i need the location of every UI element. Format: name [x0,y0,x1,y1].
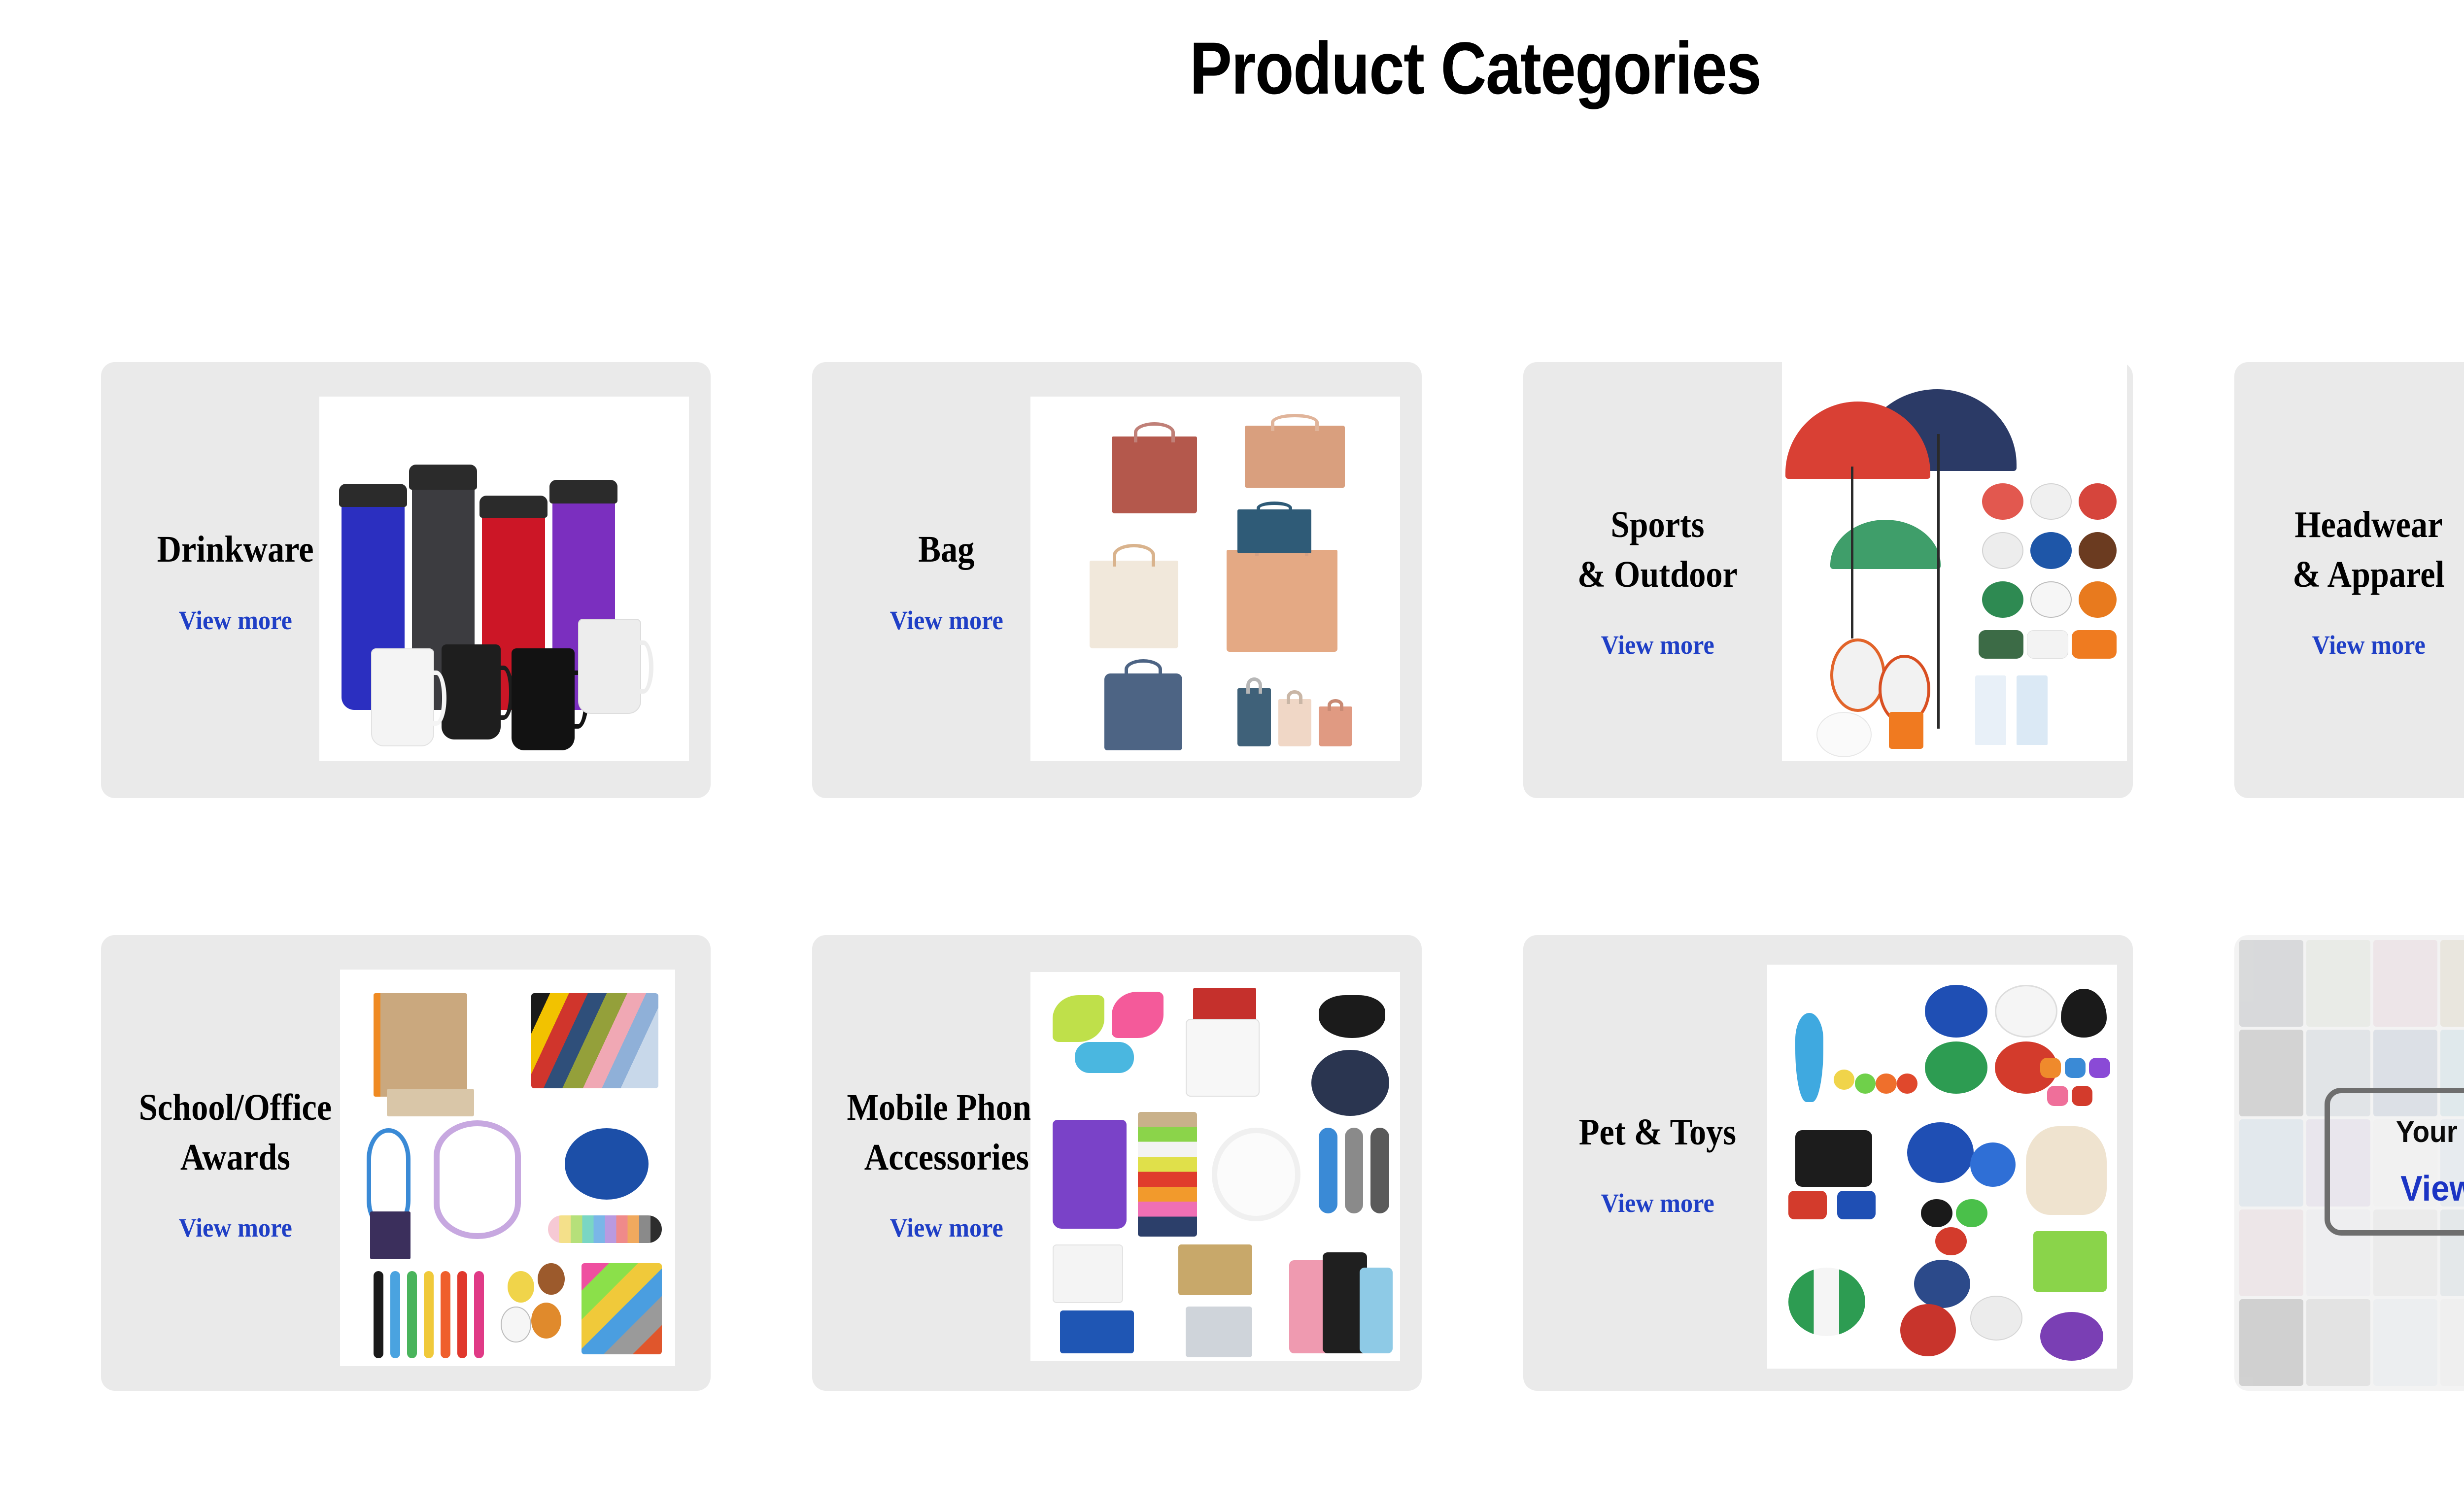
category-image-school-office [340,970,675,1366]
card-text-block: Pet & Toys View more [1523,935,1792,1391]
view-more-link[interactable]: View more [178,1212,292,1243]
view-more-link[interactable]: View more [1601,1188,1714,1218]
view-all-products-link[interactable]: View All Products [2400,1169,2464,1209]
category-card-headwear-apparel[interactable]: Headwear & Apparel View more [2234,362,2464,798]
view-more-link[interactable]: View more [1601,630,1714,660]
view-more-link[interactable]: View more [890,1212,1003,1243]
category-card-bag[interactable]: Bag View more [812,362,1422,798]
category-card-pet-toys[interactable]: Pet & Toys View more [1523,935,2133,1391]
category-title: Bag [918,525,974,574]
view-more-link[interactable]: View more [2312,630,2425,660]
cta-headline: Your Idea, We Realize [2396,1114,2464,1149]
view-more-link[interactable]: View more [890,605,1003,636]
category-grid: Drinkware View more Bag View more [101,362,2464,1392]
card-text-block: Sports & Outdoor View more [1523,362,1792,798]
category-title: Headwear & Apparel [2293,500,2444,599]
category-card-mobile-phone-accessories[interactable]: Mobile Phone Accessories View more [812,935,1422,1391]
category-title: Sports & Outdoor [1577,500,1738,599]
category-image-pet-toys [1767,965,2117,1369]
category-title: Pet & Toys [1579,1107,1736,1157]
view-more-link[interactable]: View more [178,605,292,636]
category-image-bag [1030,397,1400,761]
card-text-block: Headwear & Apparel View more [2234,362,2464,798]
category-image-drinkware [319,397,689,761]
category-card-sports-outdoor[interactable]: Sports & Outdoor View more [1523,362,2133,798]
cta-box: Your Idea, We Realize View All Products [2325,1088,2464,1236]
category-image-sports-outdoor [1782,352,2127,761]
category-title: Drinkware [157,525,314,574]
view-all-products-card[interactable]: Your Idea, We Realize View All Products [2234,935,2464,1391]
category-card-school-office-awards[interactable]: School/Office Awards View more [101,935,711,1391]
card-text-block: School/Office Awards View more [101,935,370,1391]
product-categories-page: Product Categories Drinkware View more [0,0,2464,1510]
category-title: School/Office Awards [139,1083,332,1182]
category-card-drinkware[interactable]: Drinkware View more [101,362,711,798]
category-title: Mobile Phone Accessories [847,1083,1046,1182]
category-image-mobile-accessories [1030,972,1400,1361]
page-title: Product Categories [206,30,2464,107]
